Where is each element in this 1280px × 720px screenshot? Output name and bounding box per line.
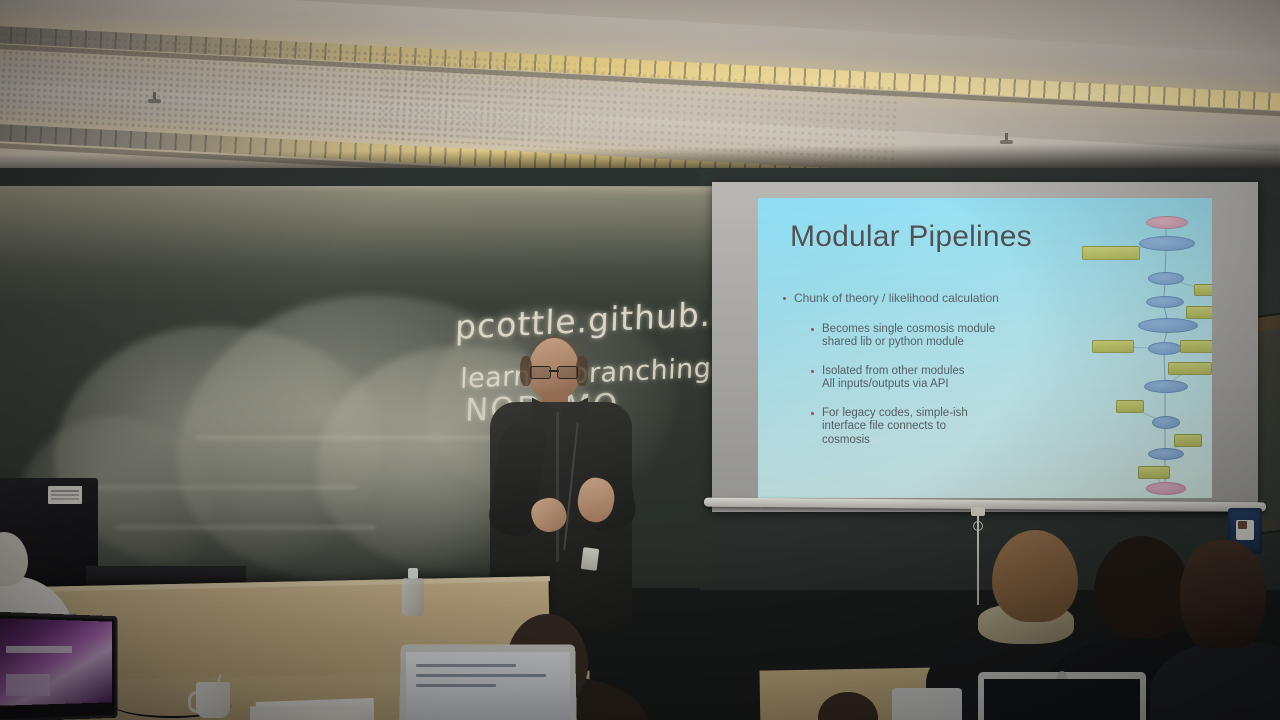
slide-bullet-3: For legacy codes, simple-ishinterface fi…	[808, 407, 1070, 448]
diagram-node-5	[1148, 342, 1182, 355]
diagram-edge	[1164, 331, 1168, 342]
diagram-box-6	[1116, 400, 1144, 413]
glasses-lens-left	[530, 366, 551, 379]
wall-device-indicator	[1238, 521, 1247, 529]
diagram-node-6	[1144, 380, 1188, 393]
diagram-box-7	[1174, 434, 1202, 447]
laptop-screen-window-body	[6, 674, 50, 696]
diagram-node-1	[1139, 236, 1195, 251]
audience-right-edge	[1168, 540, 1280, 720]
equipment-label	[48, 486, 82, 504]
chalk-streak	[196, 436, 516, 439]
diagram-box-2	[1186, 306, 1212, 319]
badge	[581, 547, 600, 571]
glasses-lens-right	[557, 366, 578, 379]
diagram-box-8	[1138, 466, 1170, 479]
chalk-streak	[56, 486, 356, 489]
presenter-shirt-placket	[556, 412, 559, 562]
papers	[256, 698, 375, 720]
diagram-edge	[1164, 283, 1166, 296]
slide-bullet-1: Becomes single cosmosis moduleshared lib…	[808, 323, 1070, 350]
laptop-right[interactable]	[978, 672, 1146, 720]
diagram-node-4	[1138, 318, 1198, 333]
slide-bullet-line: shared lib or python module	[822, 336, 1070, 350]
slide-bullet-line: cosmosis	[822, 434, 1070, 448]
diagram-box-0	[1082, 246, 1140, 260]
laptop-screen[interactable]	[984, 679, 1140, 720]
diagram-edge	[1164, 353, 1166, 380]
slide-bullet-line: For legacy codes, simple-ish	[822, 407, 1070, 421]
slide-title: Modular Pipelines	[790, 220, 1032, 254]
sprinkler-icon	[148, 92, 161, 106]
slide-bullet-2: Isolated from other modulesAll inputs/ou…	[808, 365, 1070, 392]
diagram-edge	[1164, 306, 1168, 318]
water-bottle	[402, 568, 424, 616]
slide-bullet-line: Becomes single cosmosis module	[822, 323, 1070, 337]
slide-bullet-line: interface file connects to	[822, 420, 1070, 434]
pipeline-diagram	[1076, 210, 1212, 494]
audience-shoulders	[1150, 640, 1280, 720]
mug-body	[196, 682, 230, 718]
laptop-screen-window-bar	[6, 646, 72, 653]
diagram-box-1	[1194, 284, 1212, 296]
diagram-node-7	[1152, 416, 1180, 429]
slide-bullet-line: Chunk of theory / likelihood calculation	[794, 292, 1070, 306]
diagram-node-3	[1146, 296, 1184, 308]
projection-screen: Modular Pipelines Chunk of theory / like…	[712, 182, 1258, 512]
screen-text-line	[416, 684, 496, 687]
chalk-streak	[116, 526, 376, 529]
diagram-node-9	[1146, 482, 1186, 495]
diagram-node-0	[1146, 216, 1188, 229]
audience-head	[992, 530, 1078, 622]
bottle-body	[402, 578, 424, 616]
audience-head	[818, 692, 878, 720]
diagram-edge	[1165, 249, 1167, 272]
diagram-node-2	[1148, 272, 1184, 285]
presentation-slide: Modular Pipelines Chunk of theory / like…	[758, 198, 1212, 498]
slide-bullet-line: Isolated from other modules	[822, 365, 1070, 379]
diagram-box-3	[1092, 340, 1134, 353]
screen-text-line	[416, 664, 516, 667]
chalkboard-glare	[0, 186, 712, 306]
slide-bullet-0: Chunk of theory / likelihood calculation	[780, 292, 1070, 306]
laptop-center[interactable]	[400, 644, 576, 720]
diagram-box-4	[1180, 340, 1212, 353]
diagram-node-8	[1148, 448, 1184, 460]
screen-text-line	[416, 674, 546, 677]
audience-head	[1180, 540, 1266, 648]
slide-bullet-list: Chunk of theory / likelihood calculation…	[780, 292, 1070, 462]
glasses-icon	[530, 366, 578, 377]
diagram-edge	[1165, 428, 1166, 449]
laptop-far-right[interactable]	[892, 688, 962, 720]
laptop-left[interactable]	[0, 614, 122, 720]
slide-bullet-line: All inputs/outputs via API	[822, 378, 1070, 392]
lecture-hall-scene: pcottle.github.io/ learnGitbranching? NO…	[0, 0, 1280, 720]
coffee-mug	[196, 682, 230, 718]
diagram-box-5	[1168, 362, 1212, 375]
diagram-edge	[1165, 392, 1166, 417]
